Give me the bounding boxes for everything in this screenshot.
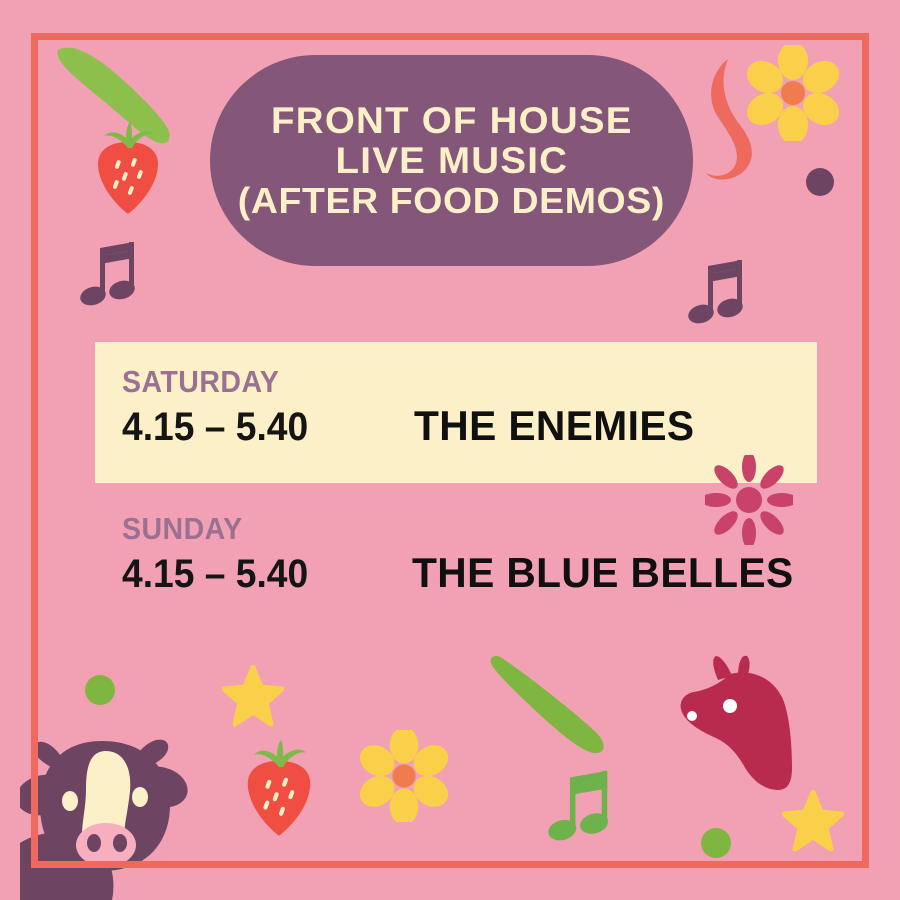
day-label-saturday: SATURDAY — [122, 365, 657, 399]
act-sunday: THE BLUE BELLES — [412, 550, 794, 596]
music-note-top-right-icon — [688, 258, 750, 326]
time-sunday: 4.15 – 5.40 — [122, 551, 338, 597]
courgette-bottom-center-icon — [482, 650, 612, 758]
poster-canvas: FRONT OF HOUSE LIVE MUSIC (AFTER FOOD DE… — [0, 0, 900, 900]
schedule-line-sunday: 4.15 – 5.40 THE BLUE BELLES — [122, 550, 805, 597]
strawberry-bottom-left-icon — [240, 740, 318, 840]
dot-bottom-right-icon — [698, 825, 734, 861]
cow-bottom-left-icon — [20, 725, 195, 900]
schedule-line-saturday: 4.15 – 5.40 THE ENEMIES — [122, 403, 703, 450]
chilli-swoosh-top-right-icon — [700, 55, 775, 205]
dot-bottom-left-icon — [82, 672, 118, 708]
time-saturday: 4.15 – 5.40 — [122, 404, 338, 450]
horse-bottom-right-icon — [672, 650, 812, 805]
act-saturday: THE ENEMIES — [414, 403, 694, 449]
courgette-top-left-icon — [52, 38, 187, 148]
dot-top-right-icon — [803, 165, 837, 199]
day-label-sunday: SUNDAY — [122, 512, 751, 546]
strawberry-top-left-icon — [92, 122, 164, 218]
header-line-2: LIVE MUSIC — [335, 141, 568, 181]
header-line-3: (AFTER FOOD DEMOS) — [238, 181, 665, 221]
schedule-row-saturday: SATURDAY 4.15 – 5.40 THE ENEMIES — [122, 365, 703, 450]
header-line-1: FRONT OF HOUSE — [271, 101, 633, 141]
star-bottom-left-icon — [222, 665, 284, 727]
header-pill: FRONT OF HOUSE LIVE MUSIC (AFTER FOOD DE… — [210, 55, 693, 266]
schedule-row-sunday: SUNDAY 4.15 – 5.40 THE BLUE BELLES — [122, 512, 805, 597]
flower-bottom-center-icon — [358, 730, 450, 822]
music-note-bottom-center-icon — [548, 768, 616, 844]
music-note-top-left-icon — [80, 240, 142, 308]
star-bottom-right-icon — [782, 790, 844, 852]
flower-top-right-icon — [745, 45, 841, 141]
